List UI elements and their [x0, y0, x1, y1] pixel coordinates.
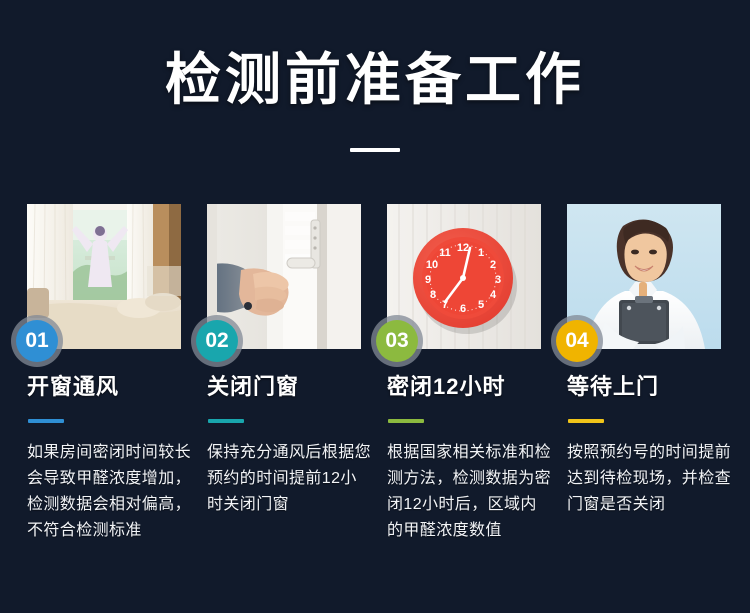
- step-1-heading: 开窗通风: [27, 374, 202, 400]
- step-4-heading: 等待上门: [567, 374, 742, 400]
- step-2-number: 02: [196, 320, 238, 362]
- promo-page: 检测前准备工作: [0, 0, 750, 613]
- step-4-rule: [568, 419, 604, 423]
- step-card-1: 01 开窗通风 如果房间密闭时间较长会导致甲醛浓度增加，检测数据会相对偏高，不符…: [18, 204, 198, 613]
- step-3-rule: [388, 419, 424, 423]
- step-4-badge: 04: [551, 315, 603, 367]
- step-3-image-wrap: 12 1 2 3 4 5 6 7 8 9 10 11: [387, 204, 541, 349]
- step-2-body: 保持充分通风后根据您预约的时间提前12小时关闭门窗: [207, 440, 373, 518]
- step-1-image-wrap: 01: [27, 204, 181, 349]
- step-4-number: 04: [556, 320, 598, 362]
- svg-text:8: 8: [430, 289, 436, 301]
- step-1-rule: [28, 419, 64, 423]
- step-4-image-wrap: 04: [567, 204, 721, 349]
- page-title: 检测前准备工作: [0, 48, 750, 112]
- step-3-badge: 03: [371, 315, 423, 367]
- svg-text:10: 10: [426, 259, 438, 271]
- step-card-2: 02 关闭门窗 保持充分通风后根据您预约的时间提前12小时关闭门窗: [198, 204, 378, 613]
- step-4-body: 按照预约号的时间提前达到待检现场，并检查门窗是否关闭: [567, 440, 733, 518]
- step-2-heading: 关闭门窗: [207, 374, 382, 400]
- step-card-3: 12 1 2 3 4 5 6 7 8 9 10 11: [378, 204, 558, 613]
- step-3-body: 根据国家相关标准和检测方法，检测数据为密闭12小时后，区域内的甲醛浓度数值: [387, 440, 553, 544]
- header: 检测前准备工作: [0, 0, 750, 190]
- step-1-badge: 01: [11, 315, 63, 367]
- svg-text:11: 11: [439, 247, 451, 259]
- svg-text:3: 3: [495, 274, 501, 286]
- title-divider: [350, 148, 400, 152]
- svg-text:12: 12: [457, 242, 469, 254]
- svg-text:6: 6: [460, 303, 466, 315]
- step-1-body: 如果房间密闭时间较长会导致甲醛浓度增加，检测数据会相对偏高，不符合检测标准: [27, 440, 193, 544]
- step-2-badge: 02: [191, 315, 243, 367]
- step-2-rule: [208, 419, 244, 423]
- step-3-number: 03: [376, 320, 418, 362]
- step-3-heading: 密闭12小时: [387, 374, 562, 400]
- step-2-image-wrap: 02: [207, 204, 361, 349]
- step-card-4: 04 等待上门 按照预约号的时间提前达到待检现场，并检查门窗是否关闭: [558, 204, 738, 613]
- svg-text:5: 5: [478, 299, 484, 311]
- step-1-number: 01: [16, 320, 58, 362]
- svg-text:1: 1: [478, 247, 484, 259]
- steps-row: 01 开窗通风 如果房间密闭时间较长会导致甲醛浓度增加，检测数据会相对偏高，不符…: [0, 204, 750, 613]
